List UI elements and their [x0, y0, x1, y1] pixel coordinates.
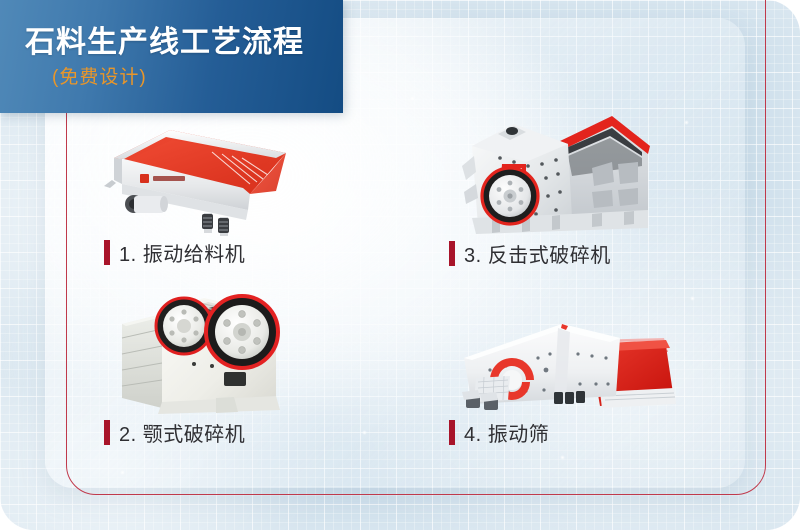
- promo-graphic: 石料生产线工艺流程 (免费设计): [0, 0, 800, 530]
- item-label-text: 3. 反击式破碎机: [464, 239, 611, 268]
- item-label-2: 2. 颚式破碎机: [104, 418, 245, 447]
- vibrating-screen-image: [450, 296, 680, 420]
- vibrating-feeder-image: [100, 118, 305, 236]
- item-label-1: 1. 振动给料机: [104, 238, 245, 267]
- page-title: 石料生产线工艺流程: [25, 17, 304, 61]
- header-banner: 石料生产线工艺流程 (免费设计): [0, 0, 343, 113]
- sparkle-decoration: [560, 455, 565, 460]
- sparkle-decoration: [410, 96, 415, 101]
- item-label-3: 3. 反击式破碎机: [449, 239, 611, 268]
- item-label-text: 2. 颚式破碎机: [119, 418, 245, 447]
- sparkle-decoration: [690, 296, 695, 301]
- item-label-text: 1. 振动给料机: [119, 238, 245, 267]
- label-marker-bar: [104, 240, 110, 265]
- sparkle-decoration: [120, 470, 125, 475]
- label-marker-bar: [449, 420, 455, 445]
- item-label-4: 4. 振动筛: [449, 418, 549, 447]
- jaw-crusher-image: [112, 276, 337, 416]
- page-subtitle: (免费设计): [52, 62, 147, 89]
- item-label-text: 4. 振动筛: [464, 418, 549, 447]
- sparkle-decoration: [316, 152, 321, 157]
- sparkle-decoration: [684, 120, 689, 125]
- label-marker-bar: [449, 241, 455, 266]
- impact-crusher-image: [452, 106, 660, 238]
- label-marker-bar: [104, 420, 110, 445]
- sparkle-decoration: [362, 430, 367, 435]
